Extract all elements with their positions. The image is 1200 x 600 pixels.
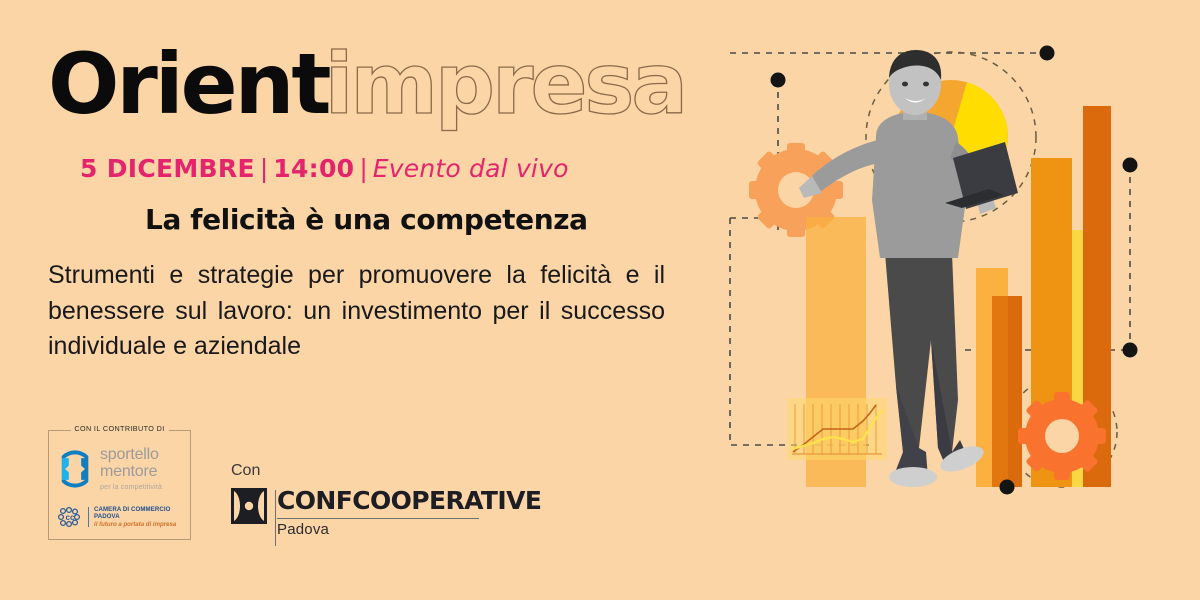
sportello-mentore-line2: mentore <box>100 464 162 480</box>
node-1 <box>1040 46 1055 61</box>
partner-prefix: Con <box>231 462 541 480</box>
confcooperative-icon <box>231 488 267 524</box>
camera-commercio-line2: PADOVA <box>94 513 176 520</box>
event-banner: Orientimpresa 5 DICEMBRE|14:00|Evento da… <box>0 0 1200 600</box>
camera-commercio-divider <box>88 507 89 527</box>
brand-wordmark-outline: impresa <box>325 35 686 133</box>
session-title: La felicità è una competenza <box>145 203 588 236</box>
session-description: Strumenti e strategie per promuovere la … <box>48 258 665 365</box>
partner-city: Padova <box>277 522 541 537</box>
partner-logo: Con CONFCOOPERATIVE Padova <box>231 462 541 537</box>
camera-commercio-logo: cc CAMERA DI COMMERCIO PADOVA il futuro … <box>57 506 176 528</box>
sponsor-box: CON IL CONTRIBUTO DI sportello mentore p… <box>48 430 191 540</box>
sportello-mentore-wordmark: sportello mentore per la competitività <box>100 447 162 490</box>
event-meta-line: 5 DICEMBRE|14:00|Evento dal vivo <box>80 155 569 183</box>
sportello-mentore-icon <box>56 450 94 488</box>
content-column: Orientimpresa 5 DICEMBRE|14:00|Evento da… <box>0 0 700 600</box>
sportello-mentore-line1: sportello <box>100 447 162 463</box>
event-time: 14:00 <box>273 154 354 183</box>
svg-text:cc: cc <box>66 513 75 522</box>
node-2 <box>771 73 786 88</box>
event-meta-separator-2: | <box>359 154 367 183</box>
hero-collage <box>700 0 1200 600</box>
event-format: Evento dal vivo <box>373 154 569 183</box>
confcooperative-text: CONFCOOPERATIVE Padova <box>277 488 541 537</box>
node-4 <box>1123 343 1138 358</box>
line-chart-widget <box>787 398 887 460</box>
brand-wordmark: Orientimpresa <box>48 42 685 126</box>
camera-commercio-icon: cc <box>57 506 83 528</box>
camera-commercio-line1: CAMERA DI COMMERCIO <box>94 506 176 513</box>
event-meta-separator-1: | <box>260 154 268 183</box>
partner-name: CONFCOOPERATIVE <box>277 488 541 513</box>
gear-icon-bottom-right <box>1018 392 1106 480</box>
partner-rule <box>277 518 479 519</box>
camera-commercio-wordmark: CAMERA DI COMMERCIO PADOVA il futuro a p… <box>94 506 176 528</box>
event-date: 5 DICEMBRE <box>80 154 255 183</box>
partner-vertical-divider <box>275 490 276 546</box>
node-5 <box>1000 480 1015 495</box>
node-3 <box>1123 158 1138 173</box>
bar-3 <box>1008 296 1022 487</box>
bar-2 <box>992 296 1008 487</box>
camera-commercio-tagline: il futuro a portata di impresa <box>94 521 176 528</box>
brand-wordmark-solid: Orient <box>48 35 329 133</box>
sportello-mentore-logo: sportello mentore per la competitività <box>56 447 162 490</box>
sportello-mentore-tagline: per la competitività <box>100 483 162 490</box>
sponsor-box-label: CON IL CONTRIBUTO DI <box>70 424 168 433</box>
confcooperative-lockup: CONFCOOPERATIVE Padova <box>231 488 541 537</box>
collage-graphic <box>700 0 1200 600</box>
